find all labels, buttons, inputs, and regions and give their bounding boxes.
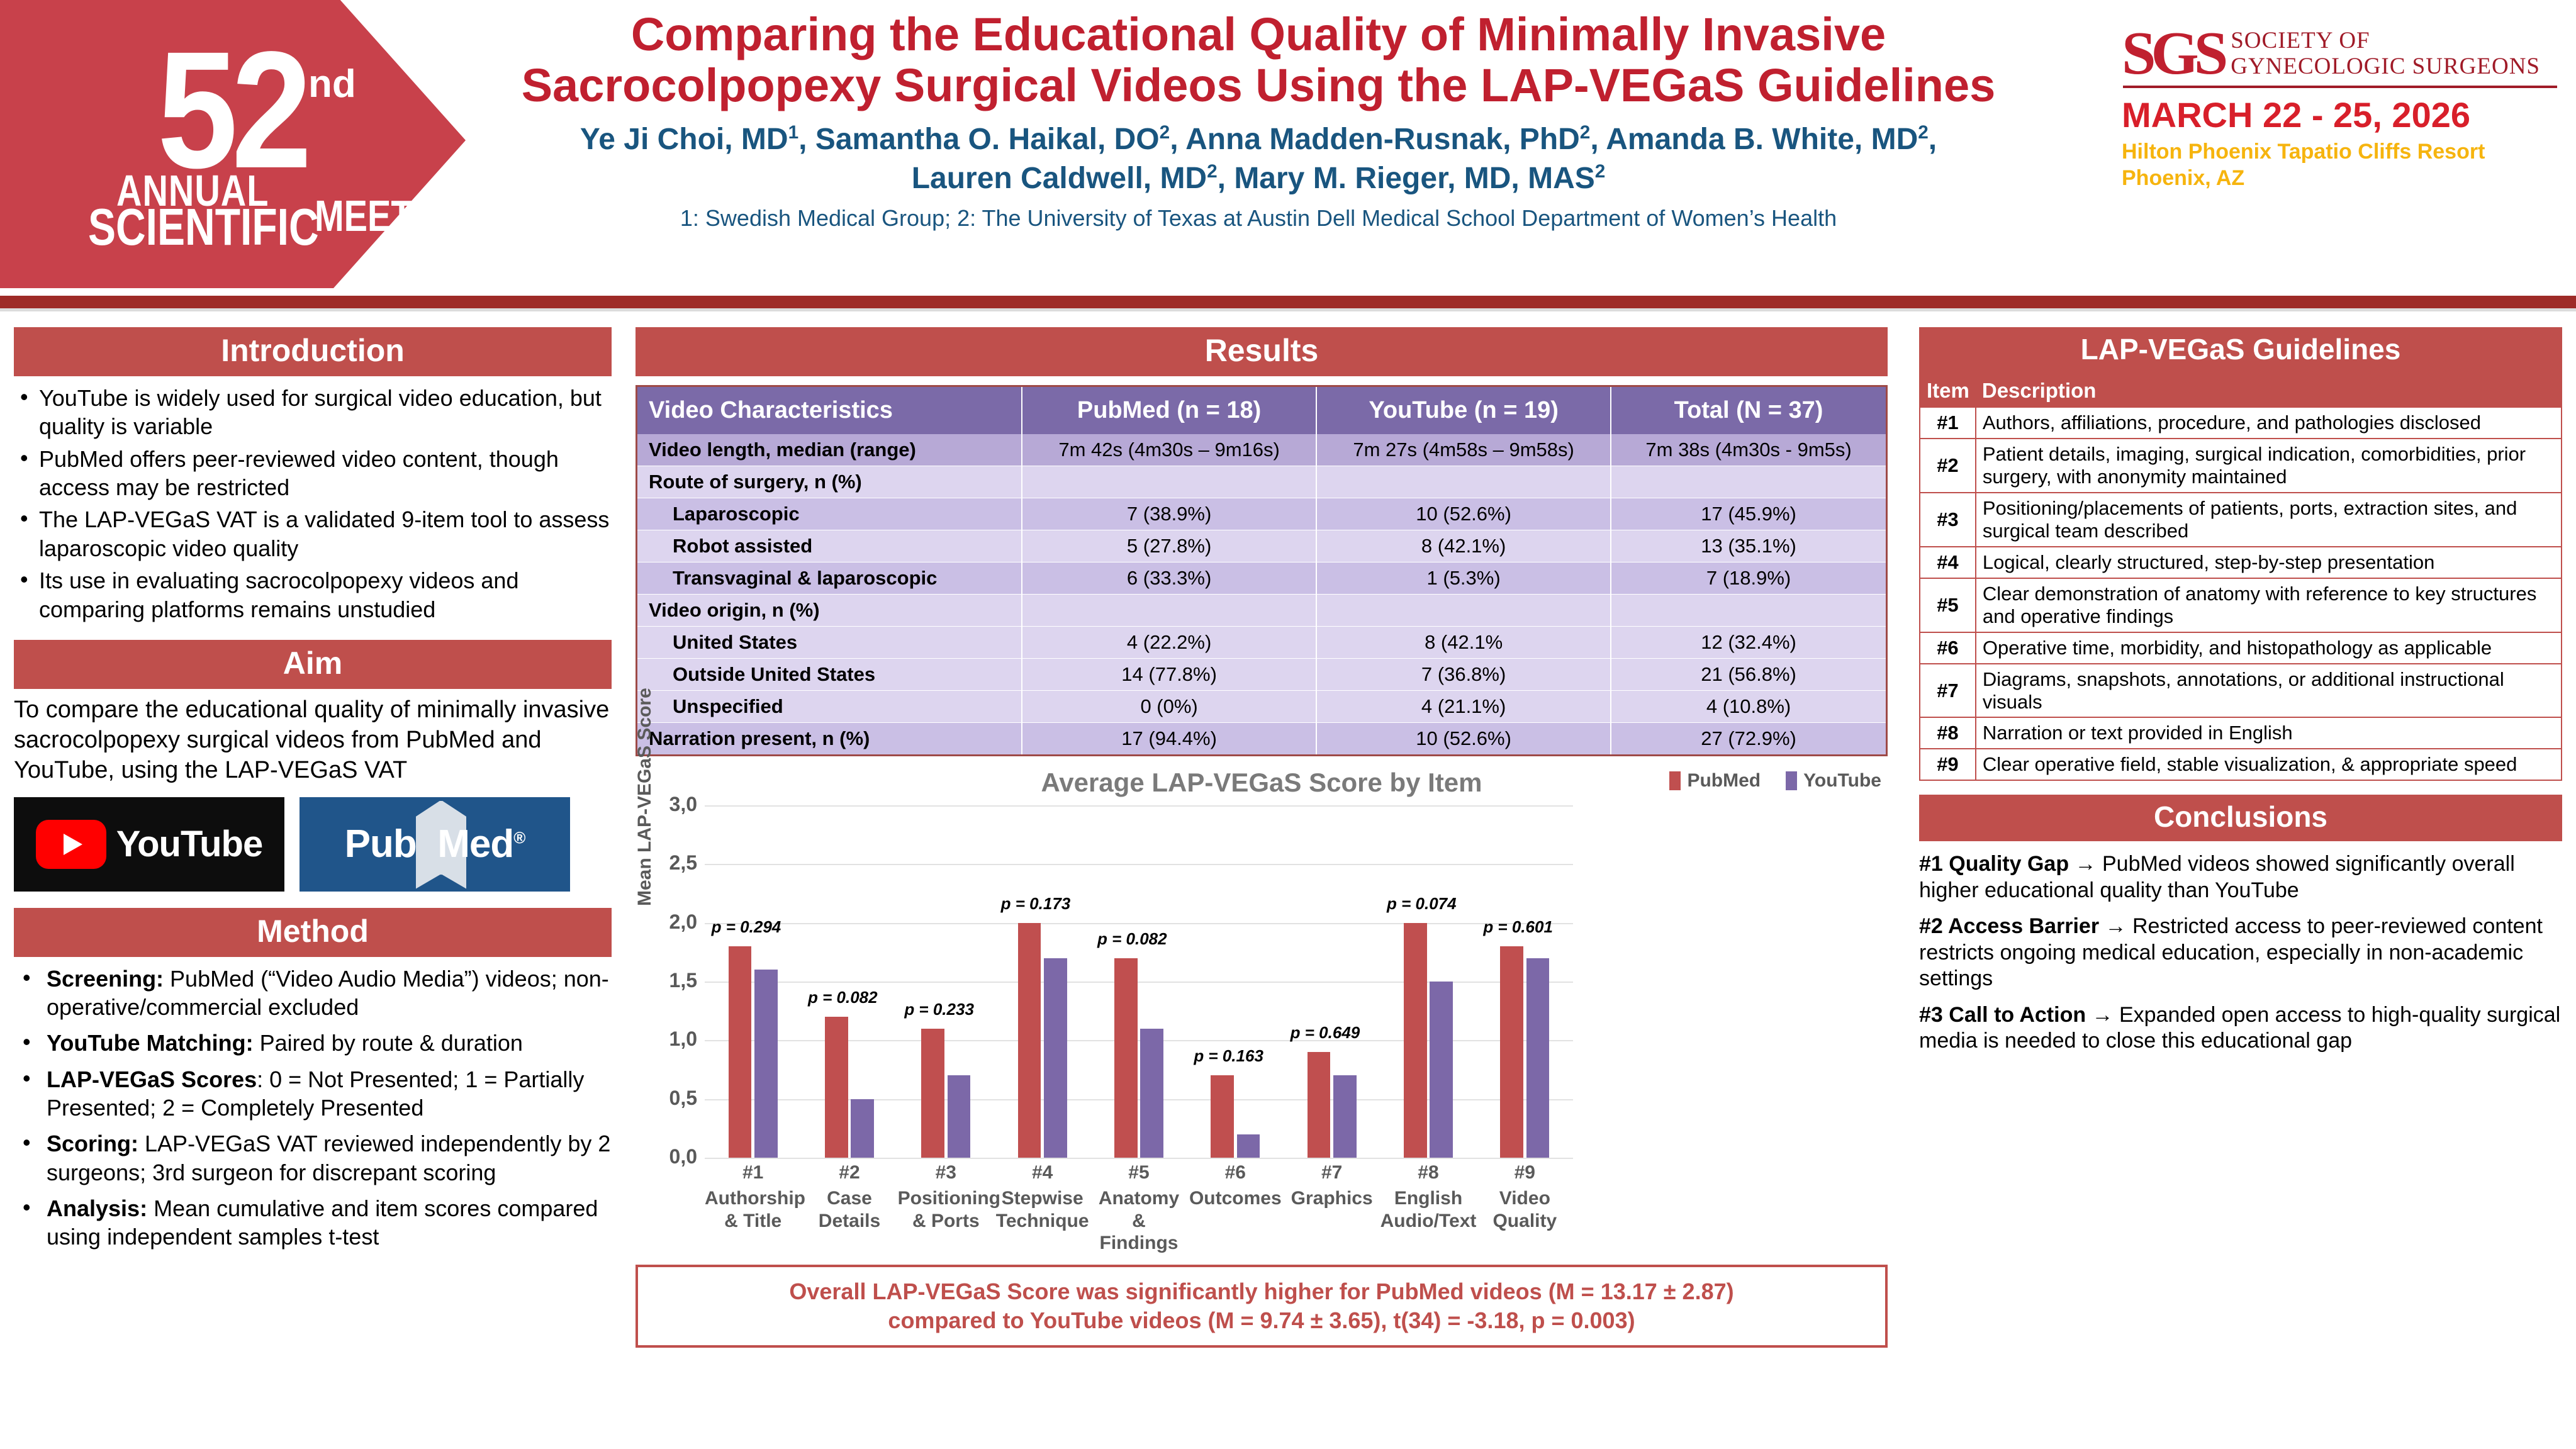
guideline-description: Clear operative field, stable visualizat… [1976,749,2562,780]
guidelines-table: Item Description #1Authors, affiliations… [1919,374,2562,781]
author-5-affil: 2 [1207,161,1218,182]
section-header-guidelines: LAP-VEGaS Guidelines [1919,327,2562,374]
annual-meeting-badge-text: 52 nd ANNUAL SCIENTIFIC MEETING [82,13,434,283]
y-axis-tick: 0,0 [644,1145,697,1168]
x-axis-tick-label: #7Graphics [1284,1161,1380,1210]
author-1: Ye Ji Choi, MD [580,123,788,156]
chart-gridline [705,805,1573,807]
table-row: Transvaginal & laparoscopic6 (33.3%)1 (5… [637,562,1887,595]
table-cell-0 [1022,595,1316,627]
section-header-conclusions: Conclusions [1919,795,2562,841]
results-table: Video CharacteristicsPubMed (n = 18)YouT… [636,385,1888,756]
table-row: Unspecified0 (0%)4 (21.1%)4 (10.8%) [637,691,1887,723]
table-header-row: Item Description [1920,374,2562,407]
chart-pvalue-annotation: p = 0.294 [712,917,781,937]
table-cell-1: 1 (5.3%) [1316,562,1611,595]
chart-gridline [705,864,1573,865]
method-label: YouTube Matching: [47,1030,254,1056]
conclusion-label: #3 Call to Action → [1919,1003,2114,1027]
table-cell-2: 4 (10.8%) [1611,691,1886,723]
chart-bar-youtube-item6 [1237,1134,1260,1158]
table-row: #7Diagrams, snapshots, annotations, or a… [1920,664,2562,718]
chart-gridline [705,1158,1573,1159]
venue-line-1: Hilton Phoenix Tapatio Cliffs Resort [2122,139,2562,165]
title-line-1: Comparing the Educational Quality of Min… [631,8,1886,60]
list-item: YouTube is widely used for surgical vide… [14,384,612,441]
section-header-method: Method [14,908,612,957]
summary-line-1: Overall LAP-VEGaS Score was significantl… [789,1278,1733,1304]
y-axis-tick: 3,0 [644,793,697,816]
table-row: #6Operative time, morbidity, and histopa… [1920,632,2562,664]
table-cell-0: 17 (94.4%) [1022,723,1316,756]
table-row: Narration present, n (%)17 (94.4%)10 (52… [637,723,1887,756]
table-cell-1: 10 (52.6%) [1316,498,1611,530]
author-4: , Amanda B. White, MD [1590,123,1918,156]
author-3: , Anna Madden-Rusnak, PhD [1170,123,1580,156]
guideline-description: Operative time, morbidity, and histopath… [1976,632,2562,664]
pubmed-word-pub: Pub [345,822,417,866]
table-row: Robot assisted5 (27.8%)8 (42.1%)13 (35.1… [637,530,1887,562]
row-label: Robot assisted [637,530,1022,562]
chart-legend: PubMed YouTube [1669,770,1881,792]
x-axis-tick-label: #1Authorship& Title [705,1161,801,1232]
y-axis-tick: 2,5 [644,851,697,875]
summary-line-2: compared to YouTube videos (M = 9.74 ± 3… [888,1307,1635,1333]
author-6: , Mary M. Rieger, MD, MAS [1218,162,1595,195]
chart-bar-youtube-item1 [754,970,778,1158]
table-cell-0: 7 (38.9%) [1022,498,1316,530]
page-title: Comparing the Educational Quality of Min… [440,9,2076,111]
right-column: LAP-VEGaS Guidelines Item Description #1… [1919,327,2562,1065]
chart-bar-youtube-item8 [1430,982,1453,1158]
author-list: Ye Ji Choi, MD1, Samantha O. Haikal, DO2… [440,120,2076,199]
chart-pvalue-annotation: p = 0.163 [1194,1046,1263,1066]
y-axis-tick: 1,0 [644,1027,697,1051]
youtube-wordmark: YouTube [116,823,262,865]
conclusion-item: #2 Access Barrier → Restricted access to… [1919,914,2562,992]
conclusion-item: #1 Quality Gap → PubMed videos showed si… [1919,851,2562,904]
chart-gridline [705,923,1573,924]
table-row: #1Authors, affiliations, procedure, and … [1920,407,2562,439]
list-item: Scoring: LAP-VEGaS VAT reviewed independ… [14,1129,612,1187]
x-axis-tick-label: #5Anatomy &Findings [1090,1161,1187,1255]
table-cell-2: 12 (32.4%) [1611,627,1886,659]
chart-bar-youtube-item5 [1140,1029,1163,1158]
meeting-venue: Hilton Phoenix Tapatio Cliffs Resort Pho… [2122,139,2562,191]
header-divider [0,296,2576,308]
chart-bar-pubmed-item2 [825,1017,848,1158]
author-5: Lauren Caldwell, MD [912,162,1207,195]
row-label: Route of surgery, n (%) [637,466,1022,498]
table-cell-1: 8 (42.1%) [1316,530,1611,562]
chart-bar-youtube-item7 [1333,1075,1357,1158]
guideline-item-number: #9 [1920,749,1976,780]
chart-pvalue-annotation: p = 0.082 [1097,929,1167,949]
x-axis-tick-label: #3Positioning& Ports [898,1161,994,1232]
table-cell-1 [1316,595,1611,627]
badge-ordinal: nd [308,62,356,106]
method-bullets: Screening: PubMed (“Video Audio Media”) … [14,965,612,1251]
table-cell-0: 14 (77.8%) [1022,659,1316,691]
chart-bar-pubmed-item7 [1308,1052,1331,1158]
table-cell-2 [1611,466,1886,498]
chart-pvalue-annotation: p = 0.601 [1483,917,1553,937]
row-label: Laparoscopic [637,498,1022,530]
method-label: Screening: [47,966,164,992]
table-row: United States4 (22.2%)8 (42.1%12 (32.4%) [637,627,1887,659]
list-item: LAP-VEGaS Scores: 0 = Not Presented; 1 =… [14,1065,612,1122]
guideline-description: Positioning/placements of patients, port… [1976,493,2562,547]
x-axis-tick-label: #9VideoQuality [1477,1161,1573,1232]
table-cell-0: 7m 42s (4m30s – 9m16s) [1022,434,1316,466]
table-cell-2: 17 (45.9%) [1611,498,1886,530]
table-cell-0: 0 (0%) [1022,691,1316,723]
chart-pvalue-annotation: p = 0.074 [1387,894,1457,914]
pubmed-logo: PubxMed® [300,797,570,892]
chart-pvalue-annotation: p = 0.649 [1291,1023,1360,1043]
aim-text: To compare the educational quality of mi… [14,695,612,786]
chart-pvalue-annotation: p = 0.233 [904,1000,974,1019]
legend-label-youtube: YouTube [1803,770,1881,792]
guideline-item-number: #6 [1920,632,1976,664]
y-axis-tick: 1,5 [644,969,697,992]
chart-bar-youtube-item2 [851,1099,874,1158]
table-row: Route of surgery, n (%) [637,466,1887,498]
list-item: Its use in evaluating sacrocolpopexy vid… [14,566,612,624]
middle-column: Results Video CharacteristicsPubMed (n =… [636,327,1888,1348]
table-row: #3Positioning/placements of patients, po… [1920,493,2562,547]
section-header-aim: Aim [14,640,612,689]
column-header-2: YouTube (n = 19) [1316,386,1611,435]
sgs-logo-block: SGS SOCIETY OF GYNECOLOGIC SURGEONS MARC… [2122,25,2562,191]
x-axis-tick-label: #6Outcomes [1187,1161,1284,1210]
table-row: #9Clear operative field, stable visualiz… [1920,749,2562,780]
column-header-item: Item [1920,374,1976,407]
legend-swatch-pubmed [1669,771,1681,790]
table-row: #8Narration or text provided in English [1920,717,2562,749]
method-text: Paired by route & duration [254,1030,523,1056]
registered-trademark-icon: ® [513,828,525,847]
guideline-description: Diagrams, snapshots, annotations, or add… [1976,664,2562,718]
title-block: Comparing the Educational Quality of Min… [440,9,2076,232]
badge-scientific-label: SCIENTIFIC [88,197,319,257]
table-cell-2: 13 (35.1%) [1611,530,1886,562]
table-row: Video origin, n (%) [637,595,1887,627]
row-label: Outside United States [637,659,1022,691]
guideline-item-number: #4 [1920,547,1976,578]
table-cell-2: 7 (18.9%) [1611,562,1886,595]
list-item: Analysis: Mean cumulative and item score… [14,1194,612,1251]
guideline-description: Narration or text provided in English [1976,717,2562,749]
legend-item-youtube: YouTube [1786,770,1881,792]
chart-bar-pubmed-item8 [1404,923,1427,1158]
pubmed-word-med: Med [437,822,513,866]
table-row: #2Patient details, imaging, surgical ind… [1920,439,2562,493]
guideline-description: Authors, affiliations, procedure, and pa… [1976,407,2562,439]
left-column: Introduction YouTube is widely used for … [14,327,612,1259]
author-6-affil: 2 [1595,161,1606,182]
table-cell-1: 7m 27s (4m58s – 9m58s) [1316,434,1611,466]
method-label: Scoring: [47,1131,138,1156]
section-header-introduction: Introduction [14,327,612,376]
table-cell-2 [1611,595,1886,627]
youtube-logo: YouTube [14,797,284,892]
author-1-affil: 1 [788,122,799,143]
poster-header: 52 nd ANNUAL SCIENTIFIC MEETING Comparin… [0,0,2576,301]
column-header-1: PubMed (n = 18) [1022,386,1316,435]
table-cell-2: 21 (56.8%) [1611,659,1886,691]
row-label: Transvaginal & laparoscopic [637,562,1022,595]
guideline-item-number: #2 [1920,439,1976,493]
column-header-description: Description [1976,374,2562,407]
y-axis-tick: 0,5 [644,1087,697,1110]
row-label: Narration present, n (%) [637,723,1022,756]
x-axis-tick-label: #2CaseDetails [801,1161,897,1232]
chart-bar-pubmed-item1 [729,946,752,1158]
table-cell-1: 7 (36.8%) [1316,659,1611,691]
author-3-affil: 2 [1580,122,1591,143]
row-label: United States [637,627,1022,659]
chart-bar-pubmed-item9 [1500,946,1523,1158]
sgs-logo-icon: SGS [2122,25,2223,82]
list-item: The LAP-VEGaS VAT is a validated 9-item … [14,505,612,562]
table-cell-1 [1316,466,1611,498]
guideline-description: Clear demonstration of anatomy with refe… [1976,578,2562,632]
table-cell-2: 7m 38s (4m30s - 9m5s) [1611,434,1886,466]
chart-bar-pubmed-item4 [1018,923,1041,1158]
table-cell-0 [1022,466,1316,498]
row-label: Video origin, n (%) [637,595,1022,627]
table-cell-1: 4 (21.1%) [1316,691,1611,723]
title-line-2: Sacrocolpopexy Surgical Videos Using the… [522,59,1996,111]
column-header-0: Video Characteristics [637,386,1022,435]
x-axis-tick-label: #8EnglishAudio/Text [1380,1161,1476,1232]
table-row: Outside United States14 (77.8%)7 (36.8%)… [637,659,1887,691]
overall-score-summary: Overall LAP-VEGaS Score was significantl… [636,1265,1888,1348]
guideline-item-number: #7 [1920,664,1976,718]
table-cell-0: 6 (33.3%) [1022,562,1316,595]
guideline-item-number: #5 [1920,578,1976,632]
list-item: YouTube Matching: Paired by route & dura… [14,1029,612,1057]
guideline-description: Logical, clearly structured, step-by-ste… [1976,547,2562,578]
chart-bar-pubmed-item6 [1211,1075,1234,1158]
table-cell-1: 8 (42.1% [1316,627,1611,659]
sgs-name-line-1: SOCIETY OF [2231,28,2540,53]
legend-label-pubmed: PubMed [1687,770,1761,792]
table-cell-1: 10 (52.6%) [1316,723,1611,756]
method-label: Analysis: [47,1195,147,1221]
conclusions-body: #1 Quality Gap → PubMed videos showed si… [1919,851,2562,1054]
x-axis-tick-label: #4StepwiseTechnique [994,1161,1090,1232]
table-row: #5Clear demonstration of anatomy with re… [1920,578,2562,632]
table-cell-0: 5 (27.8%) [1022,530,1316,562]
introduction-bullets: YouTube is widely used for surgical vide… [14,384,612,624]
chart-plot-area: 0,00,51,01,52,02,53,0p = 0.294#1Authorsh… [705,805,1573,1158]
author-2: , Samantha O. Haikal, DO [798,123,1160,156]
platform-logos: YouTube PubxMed® [14,797,612,892]
guideline-description: Patient details, imaging, surgical indic… [1976,439,2562,493]
column-header-3: Total (N = 37) [1611,386,1886,435]
list-item: Screening: PubMed (“Video Audio Media”) … [14,965,612,1022]
list-item: PubMed offers peer-reviewed video conten… [14,445,612,502]
chart-bar-youtube-item9 [1526,958,1550,1158]
chart-pvalue-annotation: p = 0.173 [1001,894,1071,914]
header-divider-shadow [0,308,2576,311]
meeting-dates: MARCH 22 - 25, 2026 [2122,94,2562,135]
guideline-item-number: #3 [1920,493,1976,547]
table-row: #4Logical, clearly structured, step-by-s… [1920,547,2562,578]
author-4-affil: 2 [1918,122,1929,143]
lapvegas-bar-chart: Average LAP-VEGaS Score by Item PubMed Y… [636,768,1888,1258]
guideline-item-number: #1 [1920,407,1976,439]
y-axis-tick: 2,0 [644,910,697,934]
conclusion-label: #2 Access Barrier → [1919,914,2127,938]
chart-pvalue-annotation: p = 0.082 [808,988,878,1007]
play-icon [36,820,106,869]
pubmed-wordmark: PubxMed® [345,822,525,866]
chart-bar-youtube-item3 [948,1075,971,1158]
chart-bar-pubmed-item5 [1114,958,1138,1158]
conclusion-label: #1 Quality Gap → [1919,852,2097,876]
legend-swatch-youtube [1786,771,1797,790]
affiliations: 1: Swedish Medical Group; 2: The Univers… [440,205,2076,232]
chart-bar-pubmed-item3 [921,1029,944,1158]
table-row: Laparoscopic7 (38.9%)10 (52.6%)17 (45.9%… [637,498,1887,530]
table-row: Video length, median (range)7m 42s (4m30… [637,434,1887,466]
table-cell-2: 27 (72.9%) [1611,723,1886,756]
venue-line-2: Phoenix, AZ [2122,165,2562,191]
poster-root: 52 nd ANNUAL SCIENTIFIC MEETING Comparin… [0,0,2576,1449]
method-label: LAP-VEGaS Scores [47,1066,257,1092]
guideline-item-number: #8 [1920,717,1976,749]
legend-item-pubmed: PubMed [1669,770,1761,792]
row-label: Video length, median (range) [637,434,1022,466]
table-header-row: Video CharacteristicsPubMed (n = 18)YouT… [637,386,1887,435]
section-header-results: Results [636,327,1888,376]
conclusion-item: #3 Call to Action → Expanded open access… [1919,1002,2562,1055]
sgs-society-name: SOCIETY OF GYNECOLOGIC SURGEONS [2231,28,2540,80]
author-2-affil: 2 [1160,122,1170,143]
table-cell-0: 4 (22.2%) [1022,627,1316,659]
sgs-name-line-2: GYNECOLOGIC SURGEONS [2231,53,2540,79]
chart-bar-youtube-item4 [1044,958,1067,1158]
author-sep: , [1929,123,1937,156]
row-label: Unspecified [637,691,1022,723]
